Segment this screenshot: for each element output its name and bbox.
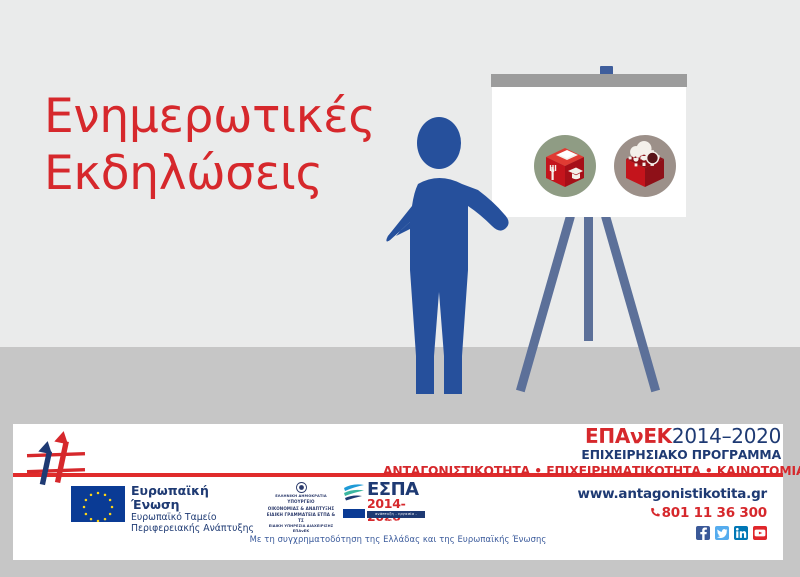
program-title-line: ΕΠΑνΕΚ2014–2020 xyxy=(383,426,781,447)
person-silhouette-icon xyxy=(382,110,522,400)
cofinancing-statement: Με τη συγχρηματοδότηση της Ελλάδας και τ… xyxy=(13,534,783,544)
easel-top-bar xyxy=(491,74,687,87)
poster-canvas: Ενημερωτικές Εκδηλώσεις xyxy=(0,0,800,577)
phone-number[interactable]: 801 11 36 300 xyxy=(578,505,767,522)
eu-stars-icon xyxy=(71,486,125,522)
contact-block: www.antagonistikotita.gr 801 11 36 300 xyxy=(578,486,767,540)
phone-number-text: 801 11 36 300 xyxy=(662,505,767,521)
espa-swoosh-icon xyxy=(343,482,365,502)
program-pillars: ΑΝΤΑΓΩΝΙΣΤΙΚΟΤΗΤΑ • ΕΠΙΧΕΙΡΗΜΑΤΙΚΟΤΗΤΑ •… xyxy=(383,464,781,479)
ministry-line-3: ΟΙΚΟΝΟΜΙΑΣ & ΑΝΑΠΤΥΞΗΣ xyxy=(265,506,337,512)
espa-mini-eu-flag-icon xyxy=(343,509,365,518)
badge-education-food xyxy=(534,135,596,197)
eu-sub-1: Ευρωπαϊκό Ταμείο xyxy=(131,512,261,523)
presenter-figure xyxy=(382,110,522,400)
title-line-2: Εκδηλώσεις xyxy=(44,145,404,202)
espa-tagline: ανάπτυξη - εργασία - αλληλεγγύη xyxy=(367,511,425,518)
esf-funding-banner: ΕΠΑνΕΚ2014–2020 ΕΠΙΧΕΙΡΗΣΙΑΚΟ ΠΡΟΓΡΑΜΜΑ … xyxy=(13,424,783,560)
eu-logo-block: Ευρωπαϊκή Ένωση Ευρωπαϊκό Ταμείο Περιφερ… xyxy=(71,484,261,524)
eu-sub-2: Περιφερειακής Ανάπτυξης xyxy=(131,523,261,534)
gears-box-icon xyxy=(614,135,676,197)
badge-gears xyxy=(614,135,676,197)
ministry-line-4: ΕΙΔΙΚΗ ΓΡΑΜΜΑΤΕΙΑ ΕΤΠΑ & ΤΣ xyxy=(265,512,337,524)
education-food-box-icon xyxy=(534,135,596,197)
easel-leg-center xyxy=(584,216,593,341)
easel-leg-right xyxy=(601,215,660,392)
website-link[interactable]: www.antagonistikotita.gr xyxy=(578,486,767,502)
title-line-1: Ενημερωτικές xyxy=(44,89,376,144)
program-heading: ΕΠΑνΕΚ2014–2020 ΕΠΙΧΕΙΡΗΣΙΑΚΟ ΠΡΟΓΡΑΜΜΑ … xyxy=(383,426,781,480)
eu-flag-icon xyxy=(71,486,125,522)
eu-title: Ευρωπαϊκή Ένωση xyxy=(131,484,261,512)
page-title: Ενημερωτικές Εκδηλώσεις xyxy=(44,88,404,203)
espa-logo-block: ΕΣΠΑ 2014-2020 ανάπτυξη - εργασία - αλλη… xyxy=(343,482,429,522)
ministry-logo-block: ΕΛΛΗΝΙΚΗ ΔΗΜΟΚΡΑΤΙΑ ΥΠΟΥΡΓΕΙΟ ΟΙΚΟΝΟΜΙΑΣ… xyxy=(265,482,337,535)
phone-icon xyxy=(650,506,661,522)
epanek-arrows-logo xyxy=(25,429,87,491)
program-period: 2014–2020 xyxy=(672,424,781,448)
program-subtitle: ΕΠΙΧΕΙΡΗΣΙΑΚΟ ΠΡΟΓΡΑΜΜΑ xyxy=(383,448,781,463)
program-acronym: ΕΠΑνΕΚ xyxy=(585,424,672,448)
easel-leg-left xyxy=(516,215,575,392)
eu-text-block: Ευρωπαϊκή Ένωση Ευρωπαϊκό Ταμείο Περιφερ… xyxy=(131,484,261,535)
hellenic-republic-emblem-icon xyxy=(296,482,307,493)
